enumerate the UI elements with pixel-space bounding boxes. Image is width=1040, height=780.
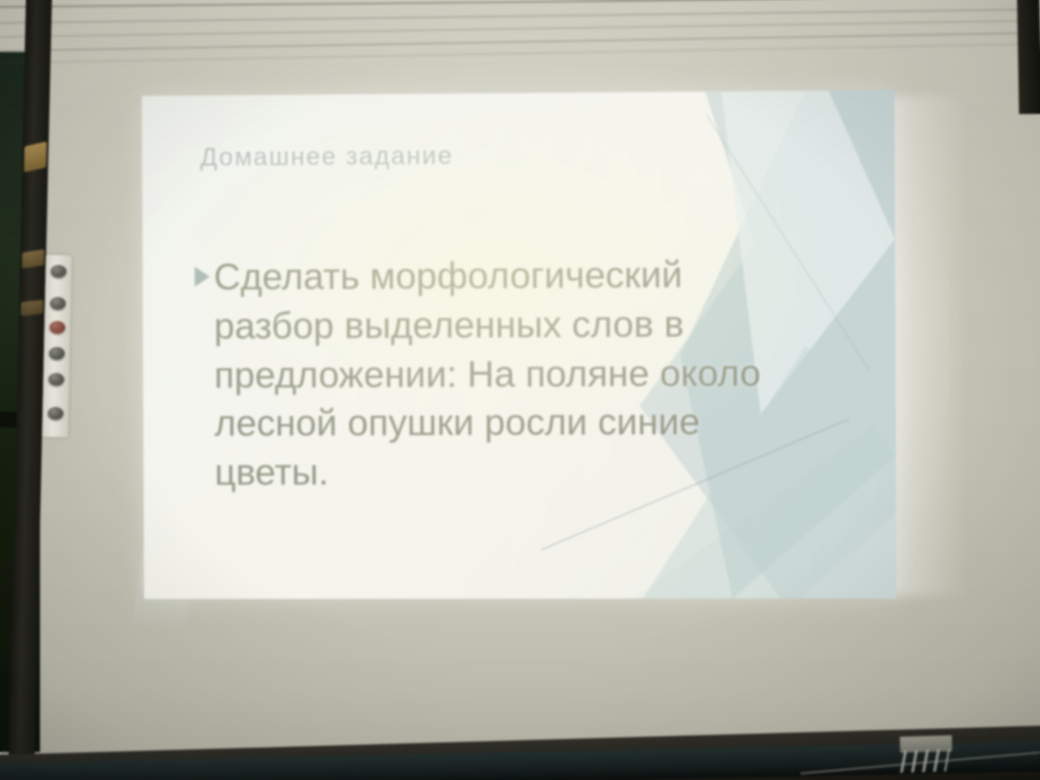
control-button-2-icon[interactable] — [50, 297, 66, 310]
slide-bullet-list: Сделать морфологический разбор выделенны… — [195, 250, 771, 498]
control-button-3-icon[interactable] — [49, 321, 65, 334]
control-button-6-icon[interactable] — [47, 407, 63, 420]
triangle-bullet-icon — [195, 267, 210, 287]
projected-slide: Домашнее задание Сделать морфологический… — [142, 90, 897, 599]
whiteboard-frame-post-right — [1017, 0, 1040, 114]
control-button-5-icon[interactable] — [48, 373, 64, 386]
projector-spill-right — [886, 96, 962, 596]
post-scuff — [21, 300, 43, 317]
slide-title: Домашнее задание — [200, 142, 453, 173]
control-button-4-icon[interactable] — [49, 347, 65, 360]
post-scuff — [24, 141, 47, 172]
post-scuff — [22, 249, 44, 268]
slide-bullet-text: Сделать морфологический разбор выделенны… — [214, 250, 771, 498]
board-control-strip[interactable] — [42, 255, 72, 438]
control-button-1-icon[interactable] — [50, 265, 66, 278]
projected-slide-photo: Домашнее задание Сделать морфологический… — [0, 0, 1040, 780]
